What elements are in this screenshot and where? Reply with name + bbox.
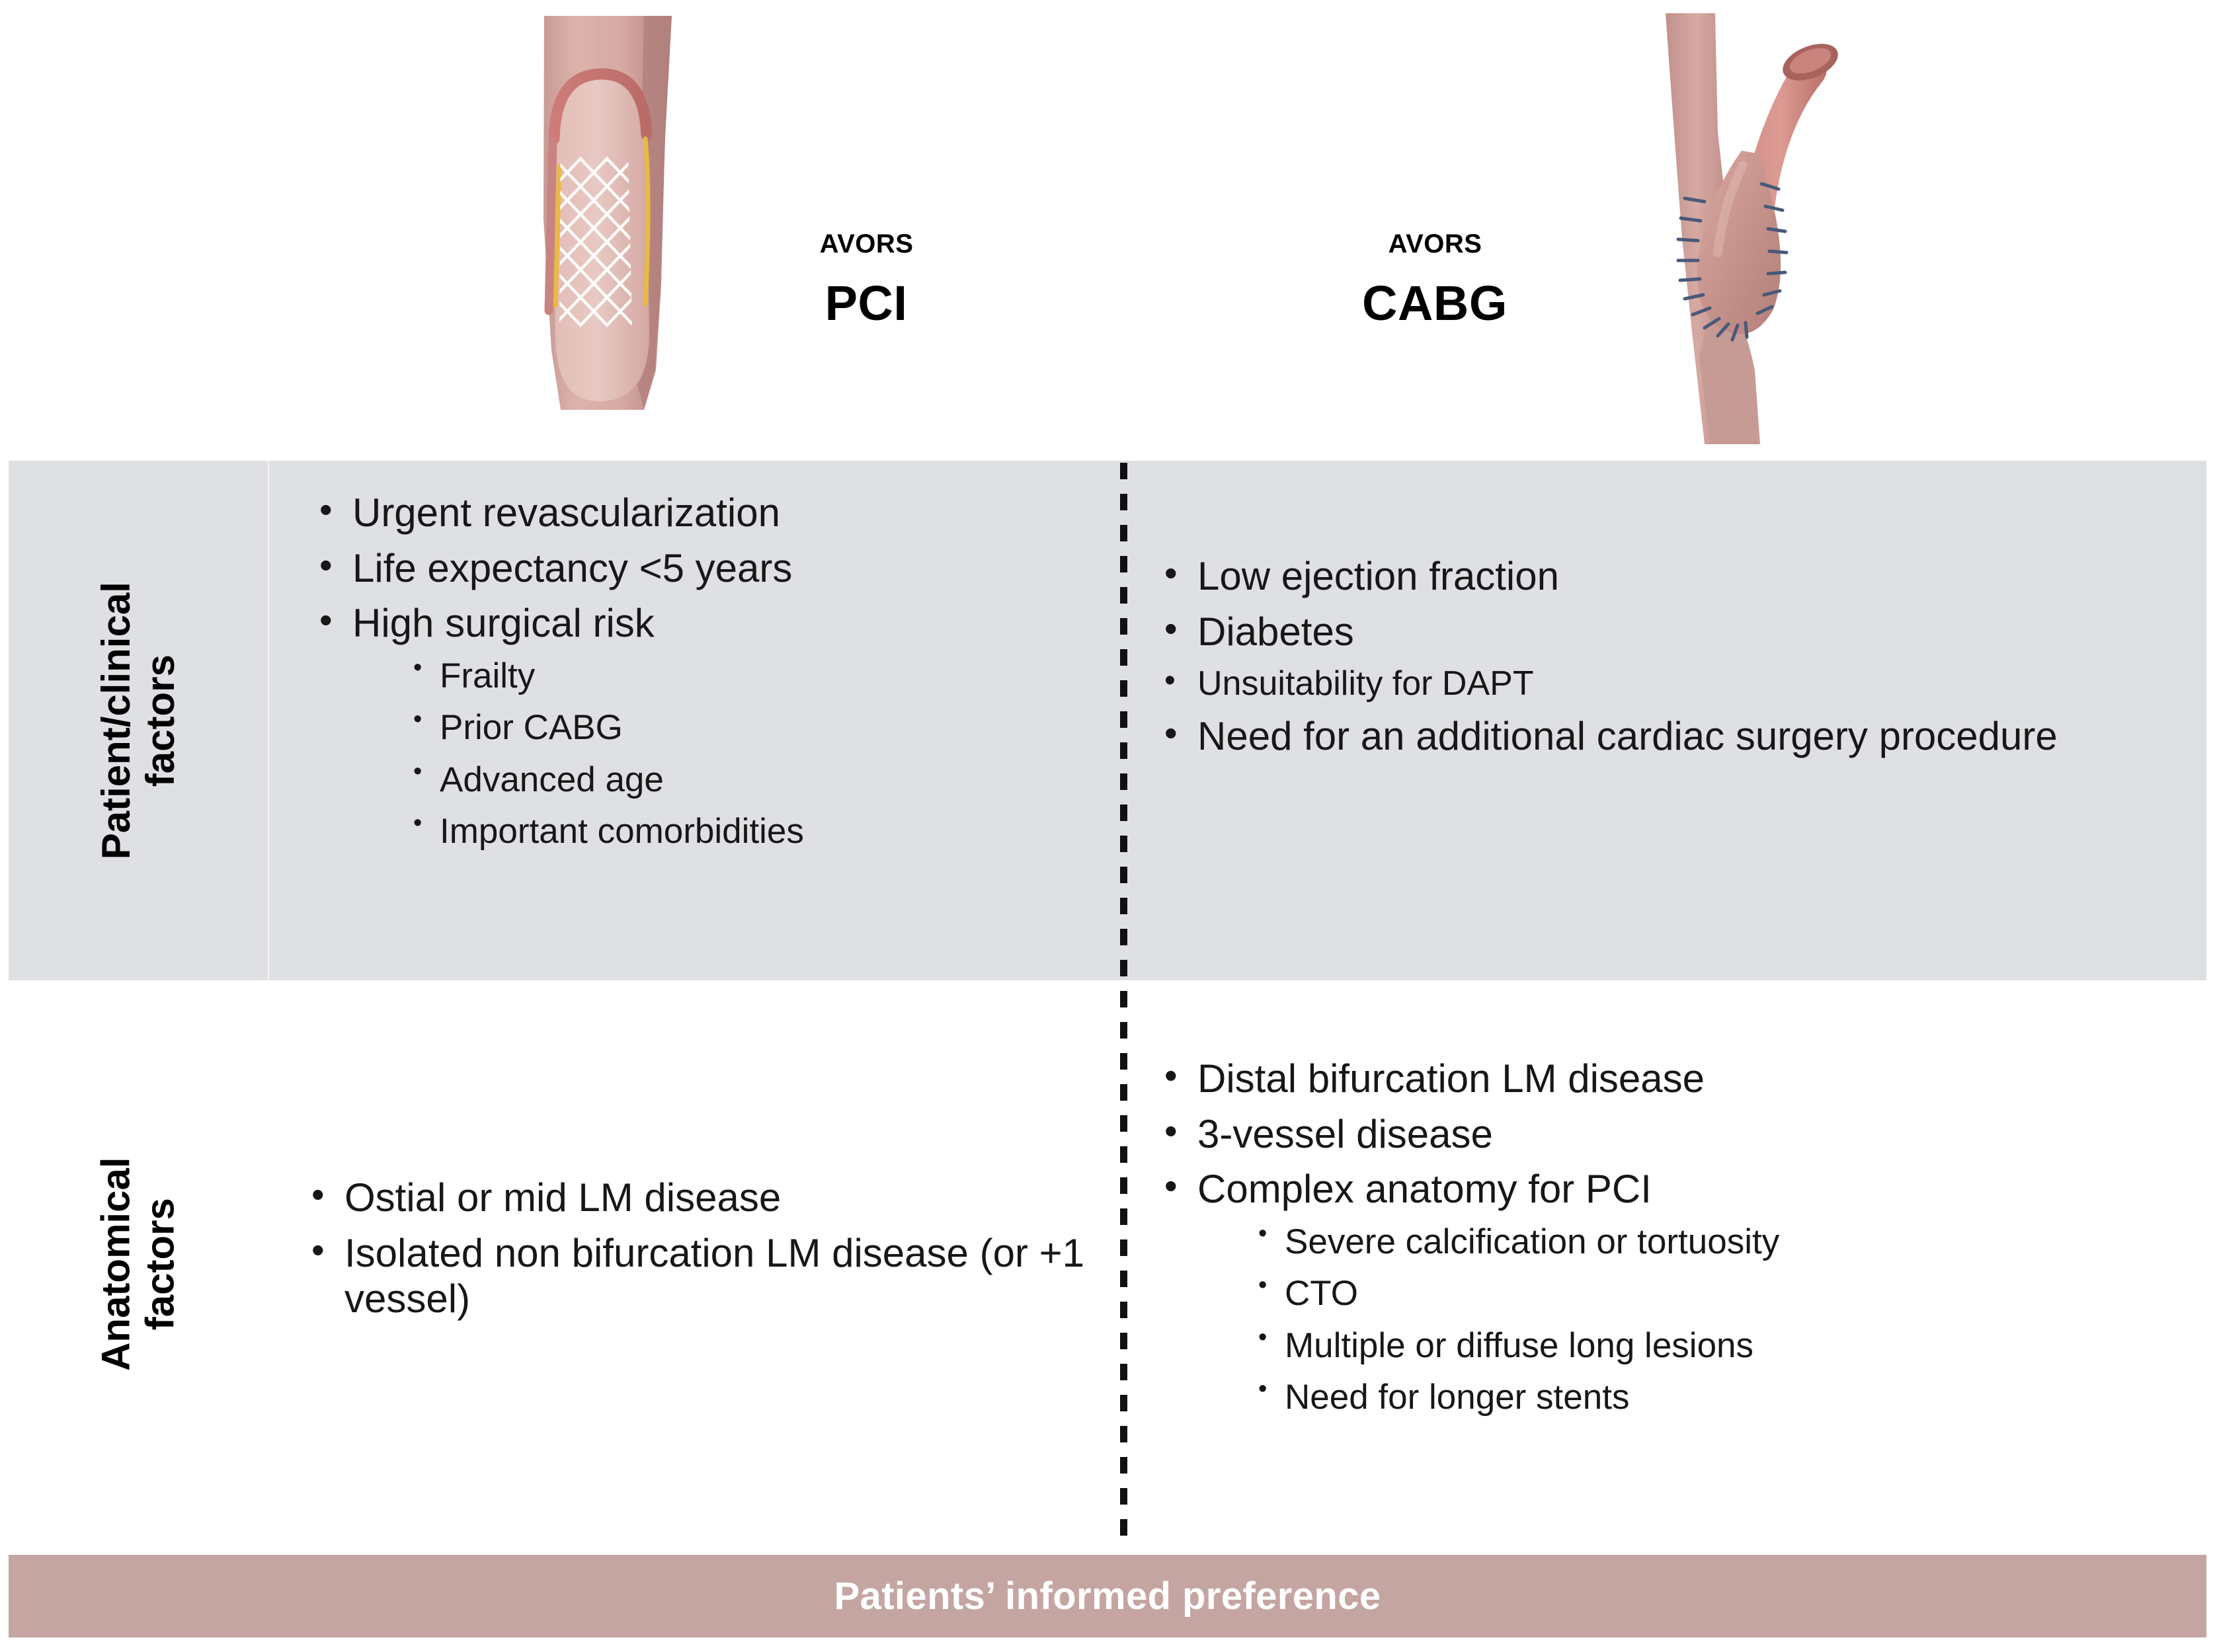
list-item: Isolated non bifurcation LM disease (or … — [306, 1230, 1119, 1322]
favors-pci-line2: PCI — [707, 279, 1025, 328]
favors-cabg-rest: AVORS — [1389, 219, 1482, 261]
list-item: CTO — [1254, 1273, 2191, 1315]
list-item: Important comorbidities — [409, 811, 1107, 853]
row-anatomical-label: Anatomical factors — [9, 983, 268, 1545]
list-item: Ostial or mid LM disease — [306, 1175, 1119, 1221]
row-clinical-label: Patient/clinical factors — [9, 461, 268, 980]
list-item: Diabetes — [1159, 609, 2164, 655]
list-item: Frailty — [409, 656, 1107, 697]
anatomical-pci-column: Ostial or mid LM disease Isolated non bi… — [268, 983, 1131, 1545]
list-item: Complex anatomy for PCI Severe calcifica… — [1159, 1166, 2191, 1419]
list-item-label: Complex anatomy for PCI — [1197, 1167, 1652, 1211]
row-clinical-label-line1: Patient/clinical — [94, 582, 138, 859]
anatomical-cabg-sub-bullet-list: Severe calcification or tortuosity CTO M… — [1197, 1222, 2191, 1419]
patients-informed-preference-label: Patients’ informed preference — [834, 1574, 1381, 1618]
clinical-cabg-column: Low ejection fraction Diabetes Unsuitabi… — [1133, 461, 2206, 980]
clinical-pci-sub-bullet-list: Frailty Prior CABG Advanced age Importan… — [352, 656, 1107, 853]
list-item: Low ejection fraction — [1159, 553, 2164, 600]
patients-informed-preference-bar: Patients’ informed preference — [9, 1555, 2206, 1637]
list-item: Distal bifurcation LM disease — [1159, 1056, 2191, 1102]
favors-pci-header: FAVORS PCI — [707, 212, 1025, 328]
row-patient-clinical-factors: Patient/clinical factors Urgent revascul… — [9, 461, 2206, 980]
clinical-cabg-bullet-list: Low ejection fraction Diabetes Unsuitabi… — [1159, 553, 2164, 768]
stented-artery-illustration — [514, 0, 719, 436]
list-item: Need for longer stents — [1254, 1377, 2191, 1419]
list-item: Multiple or diffuse long lesions — [1254, 1325, 2191, 1367]
favors-cabg-header: FAVORS CABG — [1256, 212, 1613, 328]
anatomical-cabg-column: Distal bifurcation LM disease 3-vessel d… — [1133, 983, 2206, 1545]
list-item: Advanced age — [409, 760, 1107, 801]
header-band: FAVORS PCI FAVORS CABG — [0, 0, 2215, 461]
favors-cabg-line2: CABG — [1256, 279, 1613, 328]
clinical-pci-bullet-list: Urgent revascularization Life expectancy… — [314, 490, 1107, 863]
list-item: Prior CABG — [409, 707, 1107, 749]
row-clinical-label-line2: factors — [138, 582, 182, 859]
favors-pci-rest: AVORS — [820, 219, 914, 261]
bypass-graft-anastomosis-illustration — [1644, 0, 1875, 450]
list-item: Unsuitability for DAPT — [1159, 664, 2164, 703]
anatomical-pci-bullet-list: Ostial or mid LM disease Isolated non bi… — [306, 1175, 1119, 1331]
list-item: Need for an additional cardiac surgery p… — [1159, 713, 2164, 760]
row-anatomical-label-line2: factors — [138, 1157, 182, 1370]
pci-cabg-dashed-divider — [1120, 463, 1127, 1550]
list-item: Urgent revascularization — [314, 490, 1107, 536]
anatomical-cabg-bullet-list: Distal bifurcation LM disease 3-vessel d… — [1159, 1056, 2191, 1429]
list-item-label: High surgical risk — [352, 601, 655, 645]
favors-pci-line1: FAVORS — [707, 212, 1025, 260]
favors-cabg-line1: FAVORS — [1256, 212, 1613, 260]
list-item: 3-vessel disease — [1159, 1111, 2191, 1158]
clinical-pci-column: Urgent revascularization Life expectancy… — [268, 461, 1131, 980]
list-item: Severe calcification or tortuosity — [1254, 1222, 2191, 1263]
row-anatomical-label-line1: Anatomical — [94, 1157, 138, 1370]
row-anatomical-factors: Anatomical factors Ostial or mid LM dise… — [9, 983, 2206, 1545]
list-item: High surgical risk Frailty Prior CABG Ad… — [314, 600, 1107, 853]
list-item: Life expectancy <5 years — [314, 545, 1107, 592]
